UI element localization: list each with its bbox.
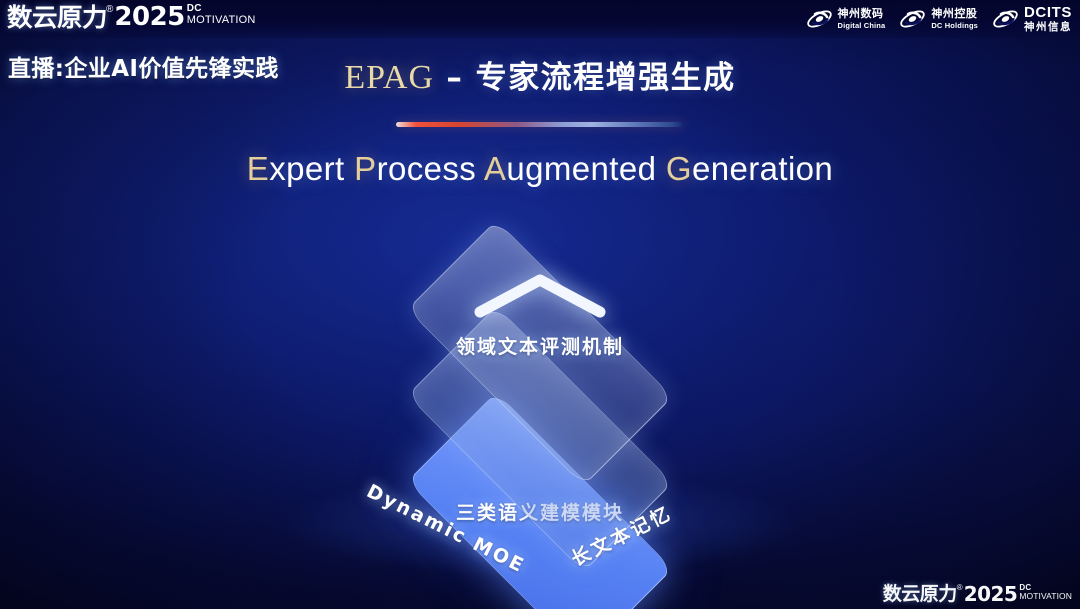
title-text-cn: 专家流程增强生成: [476, 60, 736, 96]
partner-name-en: DC Holdings: [931, 22, 978, 30]
subtitle-part: eneration: [692, 150, 833, 187]
watermark-registered-mark: ®: [957, 583, 963, 592]
subtitle-part: ugmented: [506, 150, 666, 187]
brand-dc-label: DC: [187, 4, 256, 14]
partner-text: 神州控股 DC Holdings: [931, 8, 978, 29]
partner-logo-group: 神州数码 Digital China 神州控股 DC Holdings: [806, 5, 1072, 33]
brand-name-cn: 数云原力: [7, 3, 107, 32]
brand-year: 2025: [114, 3, 184, 32]
layer-label-top: 领域文本评测机制: [0, 332, 1080, 359]
page-subtitle: Expert Process Augmented Generation: [0, 150, 1080, 188]
partner-logo-dcits: DCITS 神州信息: [992, 5, 1072, 33]
watermark-year: 2025: [964, 583, 1018, 605]
live-stream-banner: 直播:企业AI价值先锋实践: [8, 49, 279, 83]
partner-logo-dc-holdings: 神州控股 DC Holdings: [899, 7, 978, 31]
brand-motivation-label: MOTIVATION: [187, 14, 256, 26]
subtitle-part: P: [354, 150, 376, 187]
partner-text: 神州数码 Digital China: [838, 8, 886, 29]
partner-name-en: DCITS: [1024, 5, 1072, 20]
subtitle-part: xpert: [269, 150, 354, 187]
swirl-icon: [806, 7, 833, 31]
brand-logo: 数云原力 ® 2025 DC MOTIVATION: [8, 3, 256, 32]
subtitle-part: rocess: [377, 150, 484, 187]
partner-name-en: Digital China: [838, 22, 886, 30]
slide-canvas: 数云原力 ® 2025 DC MOTIVATION 直播:企业AI价值先锋实践 …: [0, 0, 1080, 609]
partner-name-cn: 神州控股: [931, 8, 978, 19]
partner-logo-digital-china: 神州数码 Digital China: [806, 7, 886, 31]
title-divider: [396, 122, 684, 127]
title-acronym: EPAG: [344, 59, 434, 96]
watermark-name-cn: 数云原力: [883, 583, 957, 605]
subtitle-part: A: [484, 150, 506, 187]
partner-name-cn: 神州数码: [838, 8, 886, 19]
watermark-motivation-label: MOTIVATION: [1019, 592, 1072, 601]
title-separator: –: [434, 60, 476, 96]
brand-suffix: DC MOTIVATION: [187, 4, 256, 26]
swirl-icon: [992, 7, 1019, 31]
diagram-layer-top[interactable]: 领域文本评测机制: [0, 228, 1080, 388]
swirl-icon: [899, 7, 926, 31]
corner-watermark: 数云原力 ® 2025 DC MOTIVATION: [883, 583, 1072, 605]
partner-text: DCITS 神州信息: [1024, 5, 1072, 33]
chevron-up-icon: [470, 270, 610, 320]
brand-registered-mark: ®: [106, 4, 113, 16]
partner-name-cn: 神州信息: [1024, 22, 1072, 33]
layer-stack-diagram: 三类语义建模模块 Dynamic MOE 长文本记忆 领域文本评测机制: [0, 228, 1080, 558]
subtitle-part: E: [247, 150, 269, 187]
subtitle-part: G: [666, 150, 692, 187]
watermark-suffix: DC MOTIVATION: [1019, 584, 1072, 601]
